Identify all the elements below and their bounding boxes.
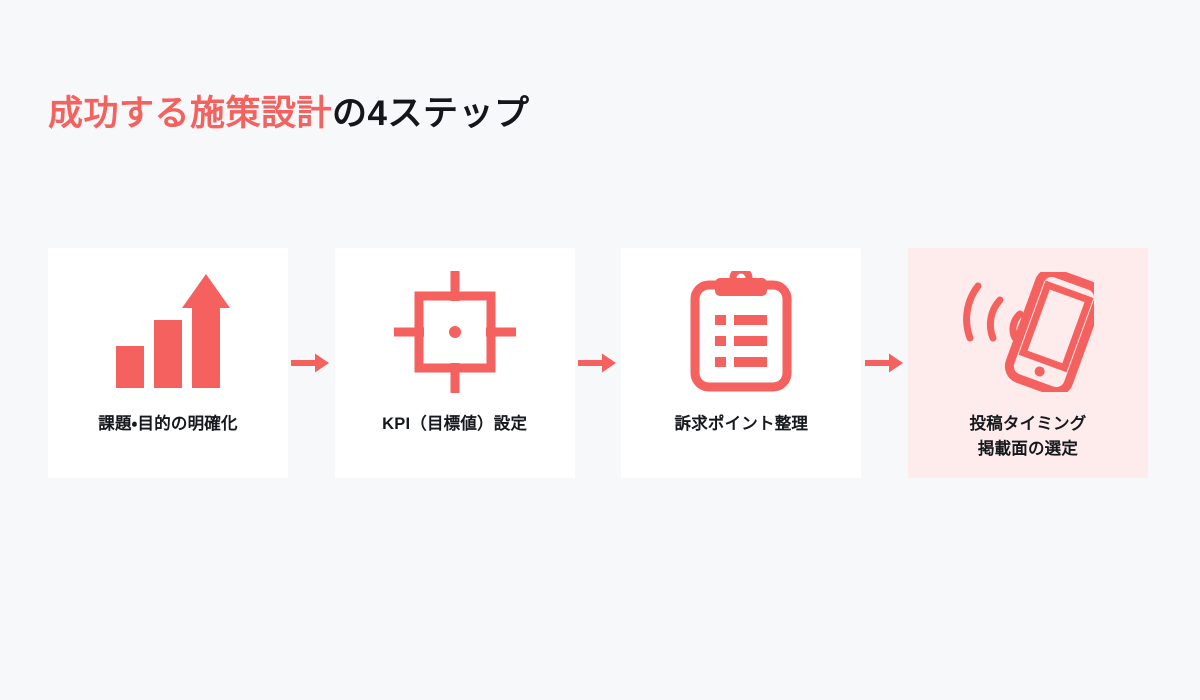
step-card-1[interactable]: 課題・目的の明確化 <box>48 248 288 478</box>
page-title-rest: の4ステップ <box>332 92 529 136</box>
smartphone-signal-icon <box>958 266 1098 398</box>
step-card-4[interactable]: 投稿タイミング 掲載面の選定 <box>908 248 1148 478</box>
page-title: 成功する施策設計 の4ステップ <box>48 92 529 136</box>
step-label-4: 投稿タイミング 掲載面の選定 <box>964 412 1093 462</box>
arrow-right-icon-3 <box>862 248 908 478</box>
arrow-right-icon-2 <box>575 248 621 478</box>
steps-flow: 課題・目的の明確化 <box>48 248 1148 478</box>
crosshair-target-icon <box>385 266 525 398</box>
step-label-3: 訴求ポイント整理 <box>669 412 815 437</box>
growth-bar-chart-arrow-icon <box>98 266 238 398</box>
slide-canvas: 成功する施策設計 の4ステップ 課題・目的の明確化 <box>0 0 1200 700</box>
step-card-3[interactable]: 訴求ポイント整理 <box>621 248 861 478</box>
step-label-1: 課題・目的の明確化 <box>92 412 243 437</box>
page-title-accent: 成功する施策設計 <box>48 92 332 136</box>
step-label-2: KPI（目標値）設定 <box>376 412 533 437</box>
clipboard-checklist-icon <box>671 266 811 398</box>
arrow-right-icon-1 <box>288 248 334 478</box>
step-card-2[interactable]: KPI（目標値）設定 <box>335 248 575 478</box>
